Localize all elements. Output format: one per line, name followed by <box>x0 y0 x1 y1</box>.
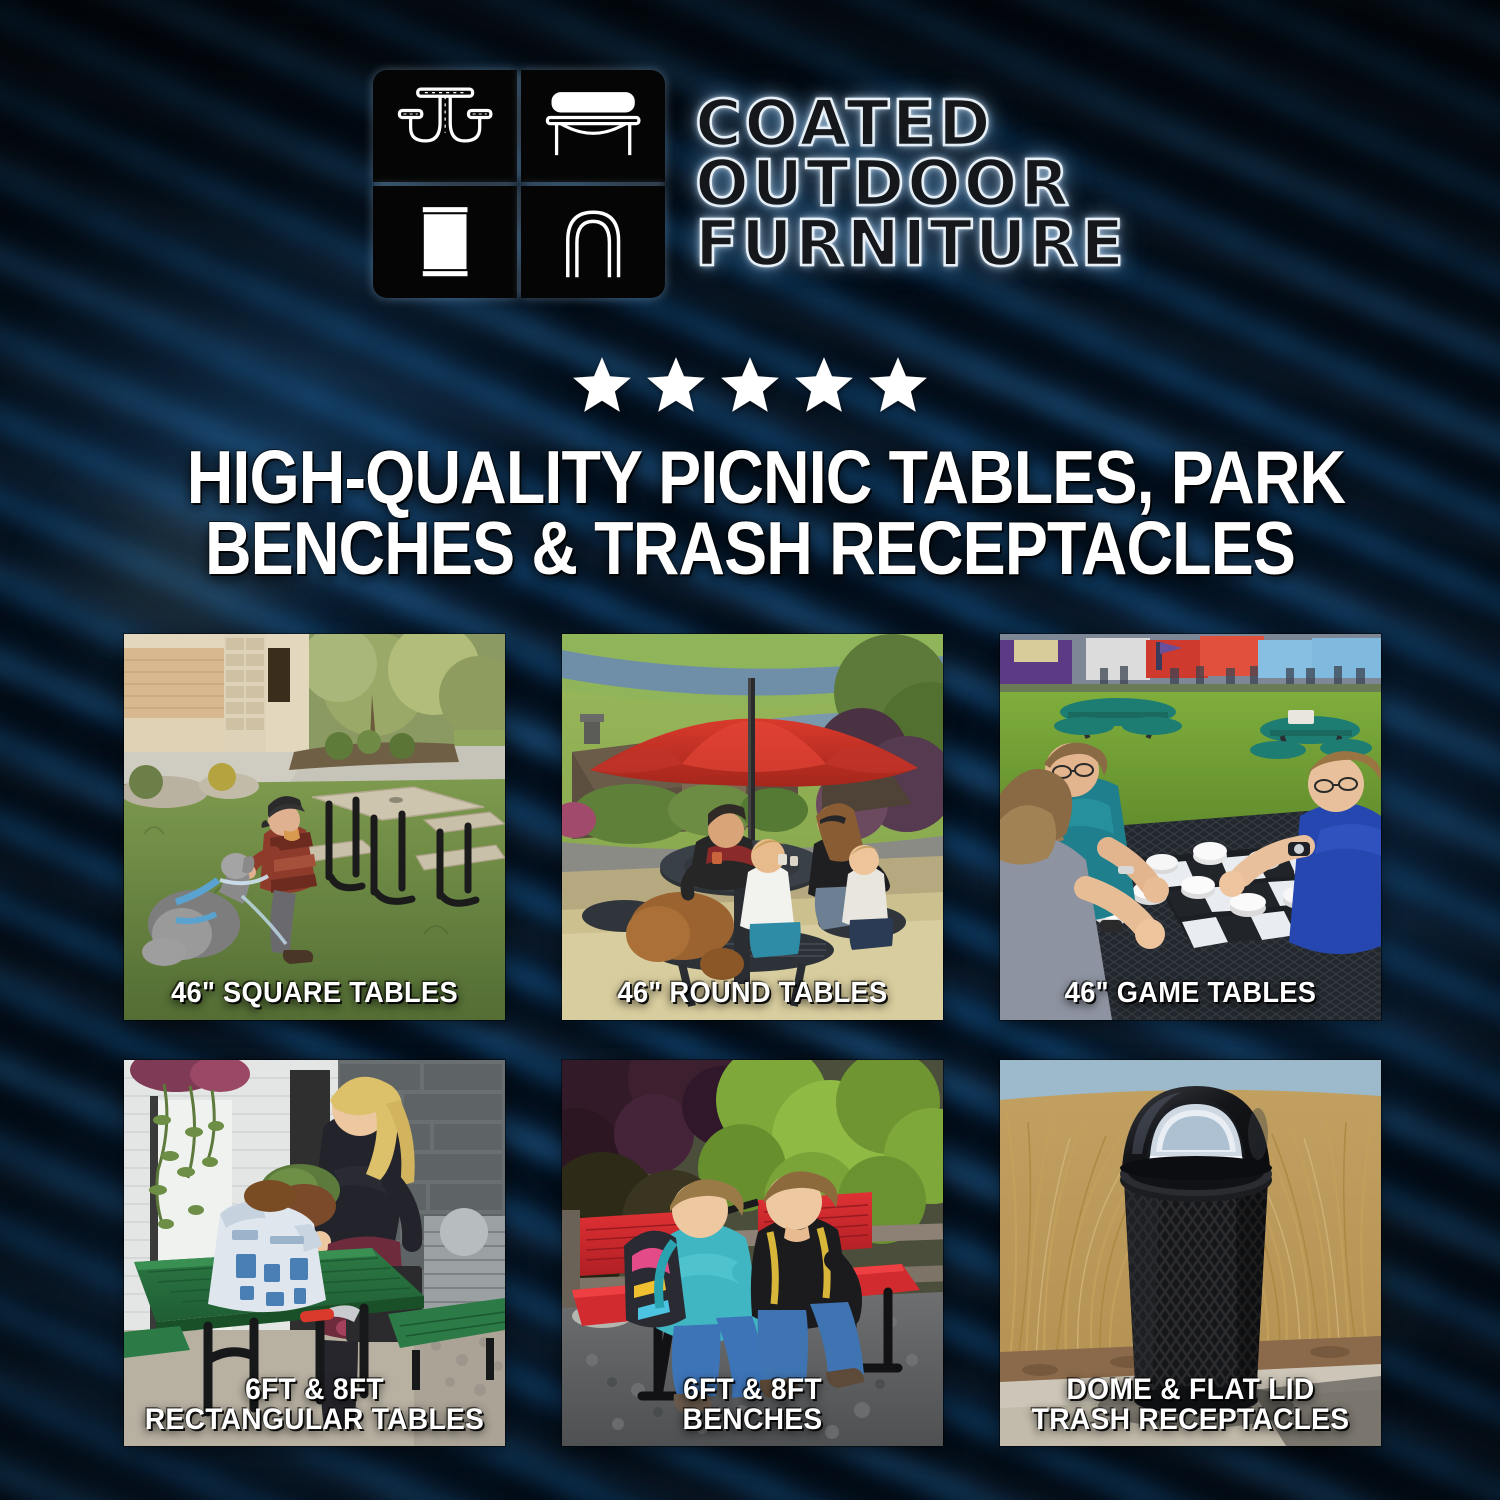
tile-caption-line2: BENCHES <box>579 1405 926 1436</box>
product-tile-game-tables[interactable]: 46" GAME TABLES <box>1000 634 1381 1020</box>
square-tables-photo <box>124 634 505 1020</box>
product-grid-row-2: 6FT & 8FT RECTANGULAR TABLES <box>124 1060 1382 1446</box>
tile-caption-line2: TRASH RECEPTACLES <box>1017 1405 1364 1436</box>
arch-bike-rack-icon <box>521 186 665 298</box>
star-icon <box>718 354 782 416</box>
tile-caption-line1: 6FT & 8FT <box>683 1373 822 1406</box>
product-tile-trash-receptacles[interactable]: DOME & FLAT LID TRASH RECEPTACLES <box>1000 1060 1381 1446</box>
headline-line-1: HIGH-QUALITY PICNIC TABLES, PARK <box>187 442 1314 513</box>
tile-caption-line1: 46" SQUARE TABLES <box>171 977 458 1009</box>
star-rating <box>0 352 1500 418</box>
product-tile-square-tables[interactable]: 46" SQUARE TABLES <box>124 634 505 1020</box>
star-icon <box>570 354 634 416</box>
brand-wordmark: COATED OUTDOOR FURNITURE <box>695 95 1127 273</box>
headline-line-2: BENCHES & TRASH RECEPTACLES <box>187 513 1314 584</box>
product-tile-benches[interactable]: 6FT & 8FT BENCHES <box>562 1060 943 1446</box>
tile-caption-line1: 6FT & 8FT <box>245 1373 384 1406</box>
tile-caption: 46" GAME TABLES <box>1011 979 1369 1008</box>
logo-icon-grid <box>373 70 665 298</box>
brand-name-line2: OUTDOOR <box>695 155 1127 213</box>
game-tables-photo <box>1000 634 1381 1020</box>
trash-receptacle-icon <box>373 186 517 298</box>
product-tile-round-tables[interactable]: 46" ROUND TABLES <box>562 634 943 1020</box>
tile-caption-line1: 46" GAME TABLES <box>1065 977 1316 1009</box>
tile-caption: 6FT & 8FT BENCHES <box>573 1375 931 1436</box>
star-icon <box>644 354 708 416</box>
star-icon <box>866 354 930 416</box>
picnic-table-icon <box>373 70 517 182</box>
product-category-grid: 46" SQUARE TABLES <box>124 634 1382 1446</box>
round-tables-photo <box>562 634 943 1020</box>
brand-logo: COATED OUTDOOR FURNITURE <box>0 68 1500 300</box>
tile-caption: 46" SQUARE TABLES <box>135 979 493 1008</box>
tile-caption-line1: DOME & FLAT LID <box>1066 1373 1314 1406</box>
star-icon <box>792 354 856 416</box>
product-grid-row-1: 46" SQUARE TABLES <box>124 634 1382 1020</box>
tile-caption-line1: 46" ROUND TABLES <box>618 977 888 1009</box>
product-tile-rectangular-tables[interactable]: 6FT & 8FT RECTANGULAR TABLES <box>124 1060 505 1446</box>
tile-caption: 46" ROUND TABLES <box>573 979 931 1008</box>
brand-name-line3: FURNITURE <box>695 215 1127 273</box>
tile-caption: 6FT & 8FT RECTANGULAR TABLES <box>135 1375 493 1436</box>
page-title: HIGH-QUALITY PICNIC TABLES, PARK BENCHES… <box>95 442 1405 583</box>
tile-caption: DOME & FLAT LID TRASH RECEPTACLES <box>1011 1375 1369 1436</box>
brand-name-line1: COATED <box>695 95 1127 153</box>
bench-table-icon <box>521 70 665 182</box>
tile-caption-line2: RECTANGULAR TABLES <box>141 1405 488 1436</box>
